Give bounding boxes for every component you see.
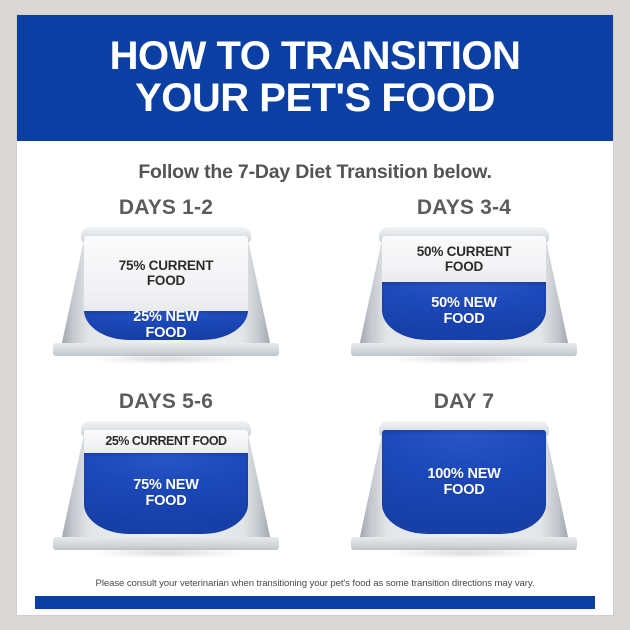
food-bowl: 100% NEW FOOD xyxy=(351,418,577,568)
page-title: HOW TO TRANSITION YOUR PET'S FOOD xyxy=(96,36,535,119)
food-bowl: 50% CURRENT FOOD 50% NEW FOOD xyxy=(351,224,577,374)
new-food-label: 100% NEW FOOD xyxy=(427,466,500,498)
footer-accent-bar xyxy=(35,596,595,609)
bowl-food-window: 50% CURRENT FOOD 50% NEW FOOD xyxy=(382,236,546,340)
current-food-label: 25% CURRENT FOOD xyxy=(105,434,226,448)
subtitle-text: Follow the 7-Day Diet Transition below. xyxy=(17,161,613,184)
food-bowl: 75% CURRENT FOOD 25% NEW FOOD xyxy=(53,224,279,374)
new-food-layer: 25% NEW FOOD xyxy=(84,311,248,340)
step-label: DAYS 1-2 xyxy=(119,197,213,218)
bowl-shadow xyxy=(61,354,271,366)
current-food-label: 50% CURRENT FOOD xyxy=(417,244,512,274)
new-food-layer: 50% NEW FOOD xyxy=(382,282,546,340)
bowl-shadow xyxy=(61,548,271,560)
disclaimer-text: Please consult your veterinarian when tr… xyxy=(17,578,613,589)
bowl-food-window: 75% CURRENT FOOD 25% NEW FOOD xyxy=(84,236,248,340)
step-label: DAY 7 xyxy=(434,391,495,412)
new-food-layer: 100% NEW FOOD xyxy=(382,430,546,534)
new-food-layer: 75% NEW FOOD xyxy=(84,453,248,534)
new-food-label: 75% NEW FOOD xyxy=(133,477,198,509)
step-days-1-2: DAYS 1-2 75% CURRENT FOOD 25% NEW FOOD xyxy=(17,197,315,391)
current-food-label: 75% CURRENT FOOD xyxy=(119,258,214,288)
bowl-shadow xyxy=(359,354,569,366)
bowl-shadow xyxy=(359,548,569,560)
infographic-canvas: HOW TO TRANSITION YOUR PET'S FOOD Follow… xyxy=(0,0,630,630)
new-food-label: 25% NEW FOOD xyxy=(133,309,198,340)
bowl-food-window: 25% CURRENT FOOD 75% NEW FOOD xyxy=(84,430,248,534)
step-label: DAYS 3-4 xyxy=(417,197,511,218)
step-label: DAYS 5-6 xyxy=(119,391,213,412)
current-food-layer: 75% CURRENT FOOD xyxy=(84,236,248,311)
step-days-5-6: DAYS 5-6 25% CURRENT FOOD 75% NEW FOOD xyxy=(17,391,315,585)
header-banner: HOW TO TRANSITION YOUR PET'S FOOD xyxy=(17,15,613,141)
current-food-layer: 25% CURRENT FOOD xyxy=(84,430,248,453)
food-bowl: 25% CURRENT FOOD 75% NEW FOOD xyxy=(53,418,279,568)
new-food-label: 50% NEW FOOD xyxy=(431,295,496,327)
step-days-3-4: DAYS 3-4 50% CURRENT FOOD 50% NEW FOOD xyxy=(315,197,613,391)
transition-steps-grid: DAYS 1-2 75% CURRENT FOOD 25% NEW FOOD xyxy=(17,197,613,585)
bowl-food-window: 100% NEW FOOD xyxy=(382,430,546,534)
step-day-7: DAY 7 100% NEW FOOD xyxy=(315,391,613,585)
infographic-card: HOW TO TRANSITION YOUR PET'S FOOD Follow… xyxy=(17,15,613,615)
current-food-layer: 50% CURRENT FOOD xyxy=(382,236,546,282)
